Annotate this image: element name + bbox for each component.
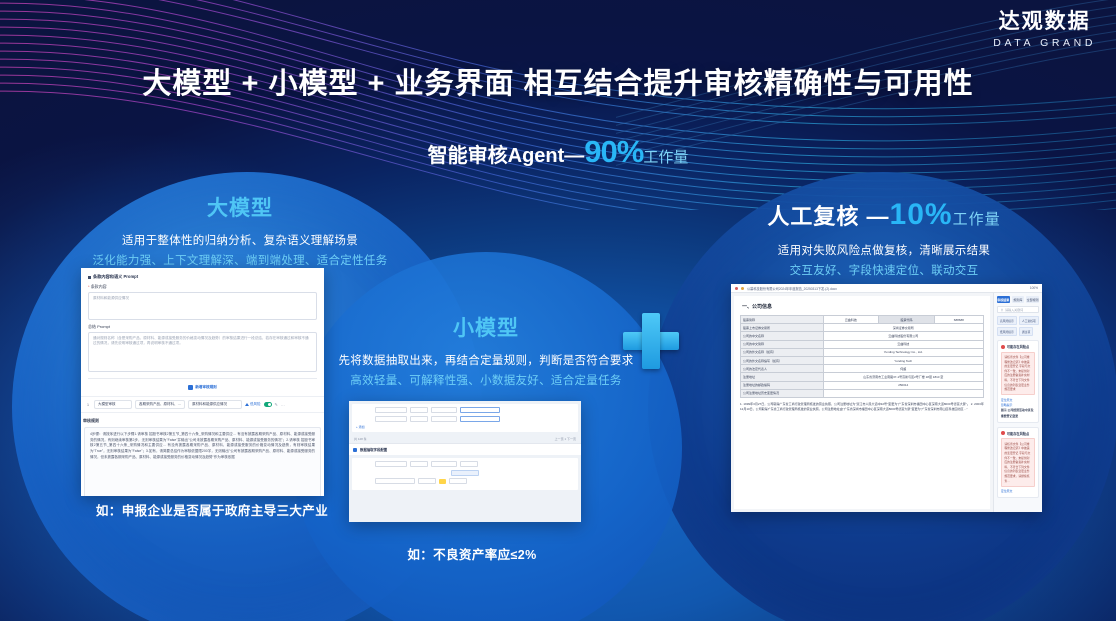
human-review-desc-1: 适用对失败风险点做复核，清晰展示结果 (668, 242, 1100, 258)
mid-select-2[interactable] (431, 407, 457, 413)
mid-pagination-top: 共 128 条 上一页 1 下一页 (349, 435, 581, 443)
rule-row-field[interactable]: 原材料和能源供应情况 (188, 400, 242, 409)
mid-text-input-3[interactable] (460, 461, 478, 467)
mid-add-link[interactable]: + 添加 (356, 425, 574, 429)
table-row: 公司注册地址历史变更情况 (741, 389, 984, 397)
left-section-title: 条款内容和语义 Prompt (88, 274, 317, 280)
add-rule-button[interactable]: 新增审核规则 (177, 383, 229, 391)
viewer-zoom-level[interactable]: 100% (1030, 286, 1038, 290)
cell-value: 深圳证券交易所 (823, 324, 983, 332)
tab-all-rules[interactable]: 全部规则 (1026, 296, 1039, 303)
document-pane: 一、公司信息 股票简称云曲科技股票代码688688 股票上市证券交易所深圳证券交… (734, 296, 990, 509)
large-model-title: 大模型 (40, 192, 440, 222)
document-paragraph: 1. 1999年3月27日，公司取得广东省工商行政管理局核发的营业执照，公司注册… (740, 402, 984, 412)
cell-value: 云曲科技股份有限公司 (823, 332, 983, 340)
caption-large-model: 如：申报企业是否属于政府主导三大产业 (62, 500, 362, 519)
table-row: 公司的中文名称云曲科技股份有限公司 (741, 332, 984, 340)
mid-select[interactable] (410, 407, 428, 413)
chip-passed[interactable]: 通过项 (1019, 327, 1033, 336)
mid-text-input[interactable] (375, 416, 407, 422)
table-icon (353, 448, 357, 452)
alert-circle-icon (1001, 431, 1005, 435)
cell-value: 何超 (823, 365, 983, 373)
locate-source-link[interactable]: 定位原文 (1001, 489, 1035, 494)
tab-review-results[interactable]: 审核结果 (997, 296, 1010, 303)
mid-form-row (356, 478, 574, 484)
company-info-table: 股票简称云曲科技股票代码688688 股票上市证券交易所深圳证券交易所 公司的中… (740, 315, 984, 398)
chip-low-risk[interactable]: 低风险提示 (997, 327, 1017, 336)
mid-form-row (356, 461, 574, 467)
risk-badge: 低风险 (245, 402, 261, 407)
mid-text-input[interactable] (375, 478, 415, 484)
table-row: 公司的中文简称云曲科技 (741, 340, 984, 348)
page-subtitle: 智能审核Agent—90%工作量 (0, 134, 1116, 170)
human-review-percent: 10% (890, 198, 953, 231)
edit-pencil-icon[interactable]: ✎ (275, 402, 278, 407)
divider (88, 378, 317, 379)
large-model-desc-1: 适用于整体性的归纳分析、复杂语义理解场景 (40, 232, 440, 248)
group-heading-large-model: 大模型 适用于整体性的归纳分析、复杂语义理解场景 泛化能力强、上下文理解深、端到… (40, 192, 440, 268)
table-row: 股票上市证券交易所深圳证券交易所 (741, 324, 984, 332)
rule-section-title: 审核规则 (83, 418, 324, 424)
mid-pagination-bottom (349, 493, 581, 497)
more-options-icon[interactable]: … (281, 402, 285, 407)
mid-total-count: 共 128 条 (354, 437, 367, 441)
document-heading: 一、公司信息 (742, 303, 984, 310)
cell-value: 250014 (823, 381, 983, 389)
sidebar-filter-chips: 高风险提示 人工复核项 低风险提示 通过项 (997, 316, 1039, 336)
mid-toolbar: 数据抽取字段配置 (349, 443, 581, 455)
human-review-title: 人工复核 —10%工作量 (668, 198, 1100, 232)
mid-text-input-2[interactable] (460, 416, 500, 422)
mid-text-input[interactable] (375, 407, 407, 413)
cell-key: 公司注册地址历史变更情况 (741, 389, 824, 397)
mid-pager[interactable]: 上一页 1 下一页 (555, 437, 576, 441)
table-row: 注册地址山东省济南市工业南路37-1号高新与区2号厂楼 18层 1810 室 (741, 373, 984, 381)
company-info-table-body: 股票简称云曲科技股票代码688688 股票上市证券交易所深圳证券交易所 公司的中… (741, 316, 984, 398)
rule-row-scope[interactable]: 各期采购产品、原材料、… (135, 400, 185, 409)
chip-manual-review[interactable]: 人工复核项 (1019, 316, 1039, 325)
cell-value: Yunding Technology Co., Ltd. (823, 348, 983, 356)
cell-value: 云曲科技 (823, 316, 879, 324)
mid-form-row (356, 416, 574, 422)
small-model-title: 小模型 (316, 312, 656, 342)
rule-row[interactable]: 1 大模型审核 各期采购产品、原材料、… 原材料和能源供应情况 低风险 ✎ … (81, 396, 324, 413)
cell-key: 公司的中文简称 (741, 340, 824, 348)
wave-lines-decoration (0, 0, 1116, 210)
subtitle-prefix: 智能审核Agent— (428, 145, 585, 167)
rule-enable-toggle[interactable] (264, 402, 272, 407)
brand-name-en: DATA GRAND (993, 37, 1096, 49)
small-model-desc-2: 高效轻量、可解释性强、小数据友好、适合定量任务 (316, 372, 656, 388)
table-row: 公司的法定代表人何超 (741, 365, 984, 373)
human-review-desc-2: 交互友好、字段快速定位、联动交互 (668, 262, 1100, 278)
cell-key: 公司的法定代表人 (741, 365, 824, 373)
subtitle-percent: 90% (584, 134, 643, 169)
cell-value-3: 688688 (934, 316, 983, 324)
table-row: 注册地址的邮政编码250014 (741, 381, 984, 389)
cell-key: 公司的外文名称（如有） (741, 348, 824, 356)
left-field1-label: * 条款内容 (88, 284, 317, 290)
caption-small-model: 如：不良资产率应≤2% (352, 544, 592, 563)
viewer-document-name: 公募科技股份有限公司2024年年度报告_20250313下发-(2).docx (747, 286, 837, 291)
alert-circle-icon (1001, 345, 1005, 349)
mid-highlight-cell (439, 479, 446, 484)
cell-value: 山东省济南市工业南路37-1号高新与区2号厂楼 18层 1810 室 (823, 373, 983, 381)
minimize-icon[interactable] (741, 287, 744, 290)
cell-key: 注册地址的邮政编码 (741, 381, 824, 389)
cell-value-2: 股票代码 (879, 316, 935, 324)
mid-form-block-top: + 添加 (352, 404, 578, 432)
brand-logo: 达观数据 DATA GRAND (993, 10, 1096, 49)
mid-text-input-2[interactable] (460, 407, 500, 413)
table-row: 公司的外文名称缩写（如有）Yunding Tech (741, 356, 984, 364)
mid-text-input-4[interactable] (449, 478, 467, 484)
table-row: 公司的外文名称（如有）Yunding Technology Co., Ltd. (741, 348, 984, 356)
cell-key: 注册地址 (741, 373, 824, 381)
cell-value (823, 389, 983, 397)
sidebar-search-input[interactable]: ⚲ 请输入关键词 (997, 306, 1039, 313)
review-sidebar: 审核结果 规则库 全部规则 ⚲ 请输入关键词 高风险提示 人工复核项 低风险提示… (993, 293, 1042, 512)
risk-card[interactable]: 可能存在风险点 请核查文件【公司章程修改记录】中披露的变更登记 字段与文件不一致… (997, 427, 1039, 499)
page-title: 大模型 + 小模型 + 业务界面 相互结合提升审核精确性与可用性 (0, 60, 1116, 102)
mid-action-button[interactable] (451, 470, 479, 476)
rule-row-type[interactable]: 大模型审核 (94, 400, 132, 409)
left-field1-textarea[interactable]: 原材料和能源供应情况 (88, 292, 317, 320)
chip-high-risk[interactable]: 高风险提示 (997, 316, 1017, 325)
screenshot-small-model-extraction: + 添加 共 128 条 上一页 1 下一页 数据抽取字段配置 (349, 401, 581, 522)
left-field2-label: 总结 Prompt (88, 324, 317, 330)
mid-select[interactable] (418, 478, 436, 484)
screenshot-human-review-viewer: 公募科技股份有限公司2024年年度报告_20250313下发-(2).docx … (731, 284, 1042, 512)
mid-select-2[interactable] (431, 416, 457, 422)
human-review-prefix: 人工复核 — (767, 204, 889, 229)
risk-card-title: 可能存在风险点 (1001, 431, 1035, 436)
risk-card[interactable]: 可能存在风险点 请核查文件【公司章程修改记录】中披露的变更登记 字段与文件不一致… (997, 340, 1039, 423)
sidebar-tabs: 审核结果 规则库 全部规则 (997, 296, 1039, 303)
cell-key: 公司的外文名称缩写（如有） (741, 356, 824, 364)
table-row: 股票简称云曲科技股票代码688688 (741, 316, 984, 324)
cell-key: 股票简称 (741, 316, 824, 324)
close-icon[interactable] (735, 287, 738, 290)
slide-canvas: 达观数据 DATA GRAND 大模型 + 小模型 + 业务界面 相互结合提升审… (0, 0, 1116, 621)
risk-card-footer: 展示 公司经营活动中涉及重要登记变更 (1001, 408, 1034, 417)
search-icon: ⚲ (1001, 308, 1003, 312)
mid-form-row (356, 407, 574, 413)
rule-text-body: 4步骤：请按序进行以下步骤1.请审核 招股书审核2第五节_第四十六条_采购情况和… (84, 427, 321, 496)
group-heading-small-model: 小模型 先将数据抽取出来，再结合定量规则，判断是否符合要求 高效轻量、可解释性强… (316, 312, 656, 388)
cell-value: 云曲科技 (823, 340, 983, 348)
screenshot-large-model-config: 条款内容和语义 Prompt * 条款内容 原材料和能源供应情况 总结 Prom… (81, 268, 324, 496)
viewer-titlebar: 公募科技股份有限公司2024年年度报告_20250313下发-(2).docx … (731, 284, 1042, 293)
group-heading-human-review: 人工复核 —10%工作量 适用对失败风险点做复核，清晰展示结果 交互友好、字段快… (668, 198, 1100, 278)
cell-key: 股票上市证券交易所 (741, 324, 824, 332)
mid-form-block-bottom (352, 458, 578, 490)
human-review-suffix: 工作量 (953, 211, 1001, 228)
bullet-square-icon (88, 276, 91, 279)
risk-card-links: 定位原文 (1001, 489, 1035, 494)
mid-select[interactable] (410, 461, 428, 467)
subtitle-suffix: 工作量 (643, 149, 688, 166)
mid-select-2[interactable] (431, 461, 457, 467)
cell-key: 公司的中文名称 (741, 332, 824, 340)
risk-card-links: 定位原文 忽略提示 展示 公司经营活动中涉及重要登记变更 (1001, 398, 1035, 419)
tab-rule-library[interactable]: 规则库 (1012, 296, 1025, 303)
small-model-desc-1: 先将数据抽取出来，再结合定量规则，判断是否符合要求 (316, 352, 656, 368)
large-model-desc-2: 泛化能力强、上下文理解深、端到端处理、适合定性任务 (40, 252, 440, 268)
rule-row-index: 1 (85, 403, 91, 407)
cell-value: Yunding Tech (823, 356, 983, 364)
mid-text-input[interactable] (375, 461, 407, 467)
risk-card-title: 可能存在风险点 (1001, 344, 1035, 349)
plus-icon (623, 313, 679, 369)
mid-select[interactable] (410, 416, 428, 422)
risk-card-alert: 请核查文件【公司章程修改记录】中披露的变更登记 字段与文件不一致，未提供对应的注… (1001, 352, 1035, 396)
brand-name-cn: 达观数据 (993, 10, 1096, 34)
plus-square-icon (188, 385, 193, 390)
left-field2-textarea[interactable]: 通对规则名称（含是采购产品、原材料、能源或接受服务的价格变动情况及趋势）的审核结… (88, 332, 317, 372)
risk-card-alert: 请核查文件【公司章程修改记录】中披露的变更登记 字段与文件不一致，未提供对应的注… (1001, 438, 1035, 486)
warning-triangle-icon (245, 403, 249, 406)
